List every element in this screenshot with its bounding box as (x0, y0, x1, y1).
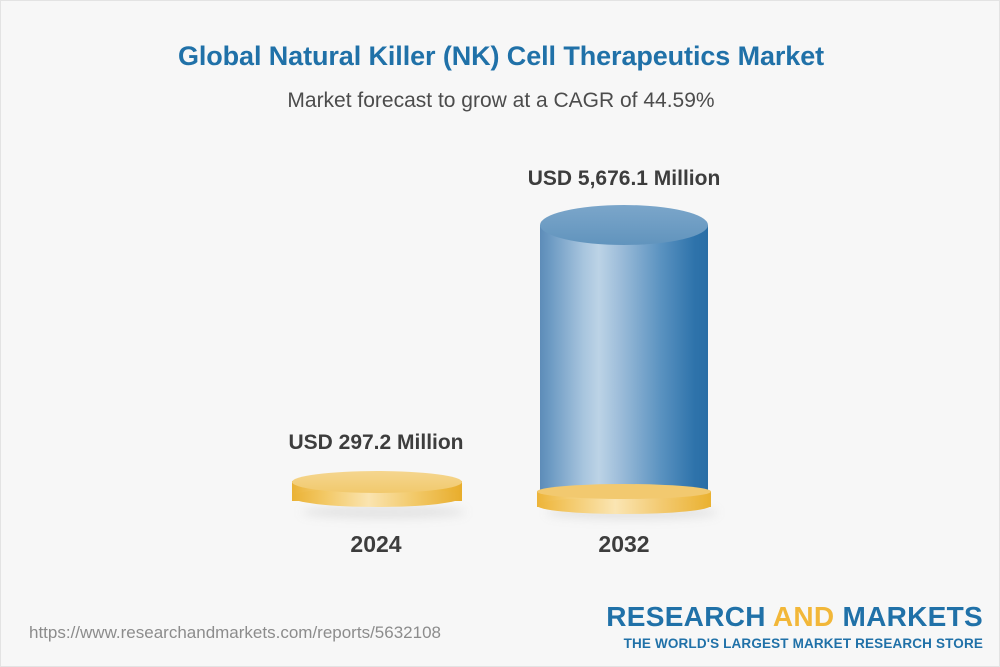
value-label-2024: USD 297.2 Million (226, 431, 526, 455)
bar-base-2032-top (537, 484, 711, 499)
chart-canvas: Global Natural Killer (NK) Cell Therapeu… (0, 0, 1000, 667)
brand-logo-and: AND (773, 601, 835, 632)
brand-logo-research: RESEARCH (606, 601, 773, 632)
bar-cylinder-2032 (540, 205, 708, 513)
value-label-2032: USD 5,676.1 Million (474, 167, 774, 191)
page-title: Global Natural Killer (NK) Cell Therapeu… (1, 41, 1000, 72)
bar-cylinder-2024-top (292, 471, 462, 493)
brand-logo: RESEARCH AND MARKETS THE WORLD'S LARGEST… (606, 601, 983, 651)
bar-base-2032 (537, 485, 711, 513)
bar-base-2032-bottom (537, 497, 711, 514)
bar-cylinder-2024 (292, 471, 462, 515)
brand-logo-tagline: THE WORLD'S LARGEST MARKET RESEARCH STOR… (606, 636, 983, 651)
chart-subtitle: Market forecast to grow at a CAGR of 44.… (1, 89, 1000, 113)
brand-logo-markets: MARKETS (834, 601, 983, 632)
brand-logo-wordmark: RESEARCH AND MARKETS (606, 601, 983, 633)
bar-cylinder-2032-top (540, 205, 708, 245)
axis-label-2032: 2032 (474, 531, 774, 558)
bar-cylinder-2032-body (540, 225, 708, 497)
source-url[interactable]: https://www.researchandmarkets.com/repor… (29, 623, 441, 643)
